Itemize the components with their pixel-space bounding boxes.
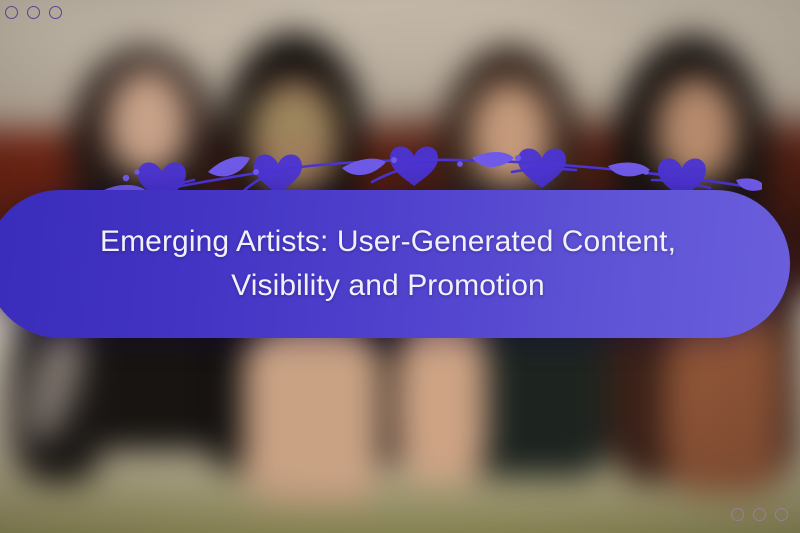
circle-icon — [49, 6, 62, 19]
featured-image-card: Emerging Artists: User-Generated Content… — [0, 0, 800, 533]
corner-dots-bottom-right — [731, 508, 788, 521]
person-3-face — [470, 82, 551, 188]
circle-icon — [5, 6, 18, 19]
person-1-face — [106, 69, 189, 175]
person-2-glasses — [252, 109, 333, 134]
circle-icon — [775, 508, 788, 521]
page-title: Emerging Artists: User-Generated Content… — [68, 220, 708, 308]
corner-dots-top-left — [5, 6, 62, 19]
person-4-face — [657, 77, 738, 183]
circle-icon — [731, 508, 744, 521]
person-2-skin — [243, 313, 381, 504]
circle-icon — [27, 6, 40, 19]
title-banner: Emerging Artists: User-Generated Content… — [0, 190, 790, 338]
circle-icon — [753, 508, 766, 521]
person-2-face — [249, 79, 338, 193]
